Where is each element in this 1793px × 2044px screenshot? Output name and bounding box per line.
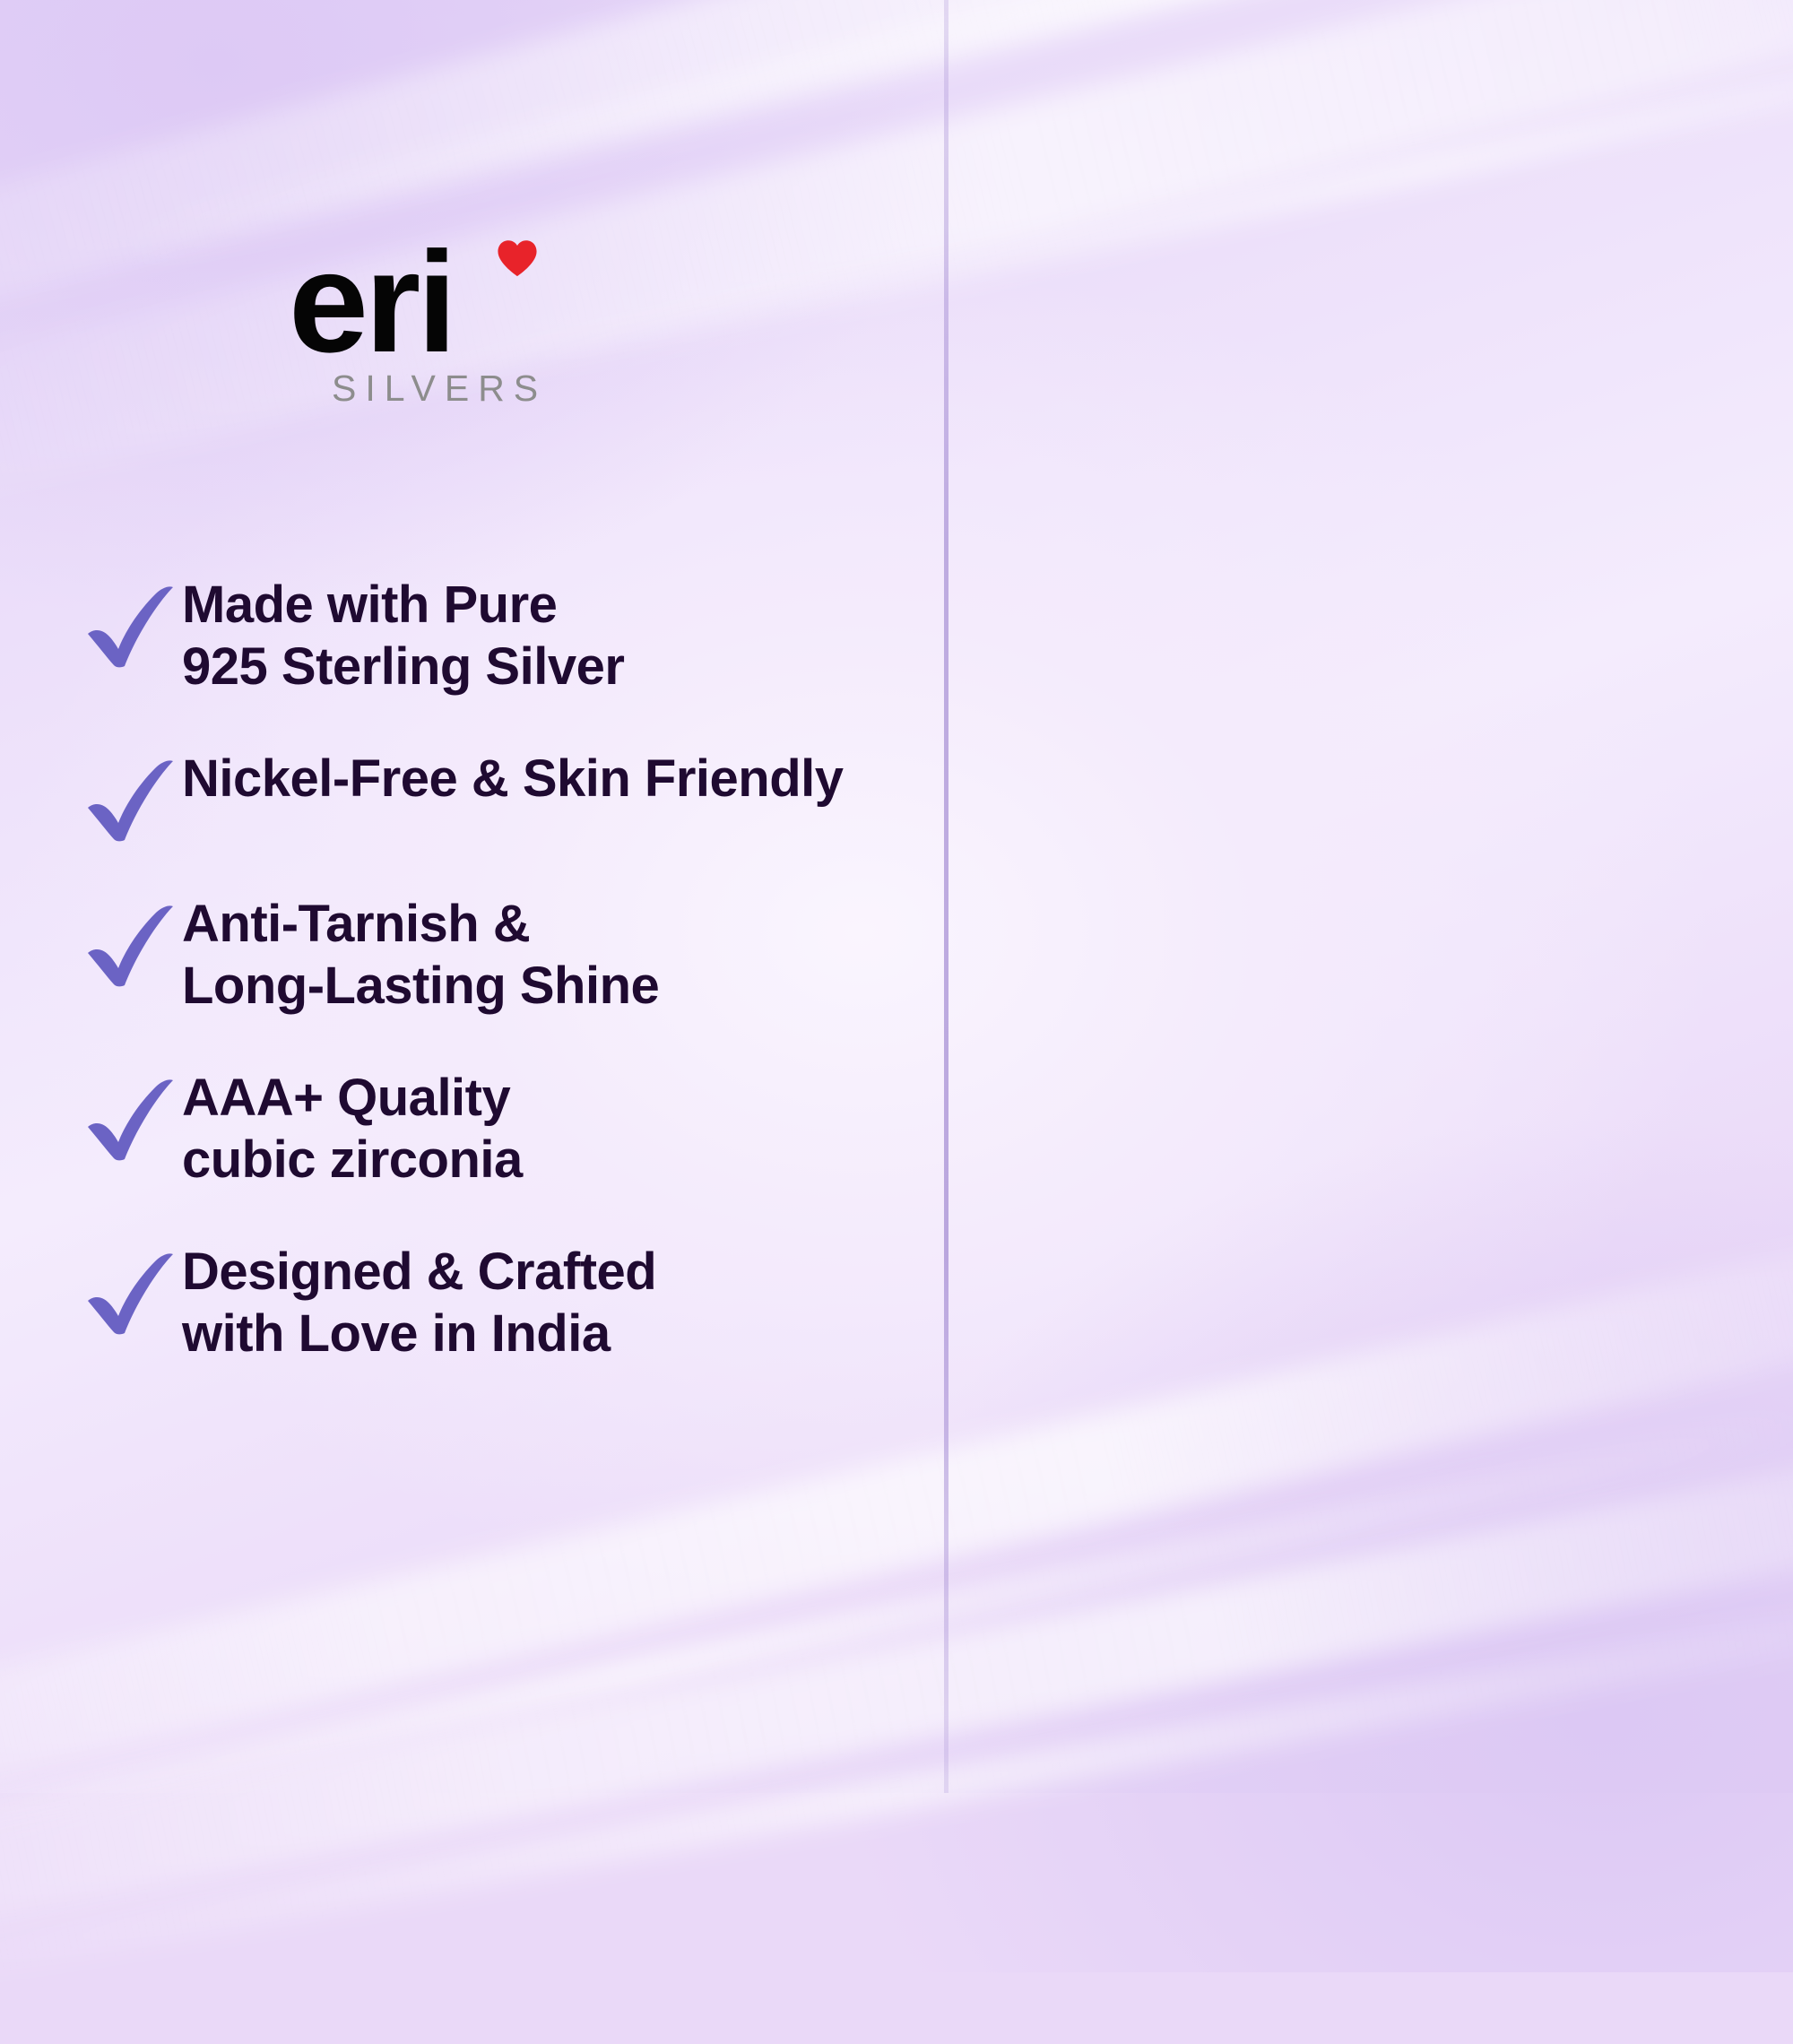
brand-logo: eri SILVERS [289,247,547,410]
check-icon [85,574,182,669]
other-brands-column: Other Brands Made with Cheap Alloy/Brass… [948,0,1793,1793]
list-item: AAA+ Quality cubic zirconia [85,1067,937,1191]
check-icon [85,748,182,843]
list-item: Nickel-Free & Skin Friendly [85,748,937,843]
check-icon [85,893,182,988]
comparison-infographic: eri SILVERS Made with Pure 925 Sterling … [0,0,1793,1793]
list-item: Designed & Crafted with Love in India [85,1241,937,1364]
check-icon [85,1241,182,1336]
list-item-label: Nickel-Free & Skin Friendly [182,748,844,810]
list-item: Made with Pure 925 Sterling Silver [85,574,937,697]
list-item-label: AAA+ Quality cubic zirconia [182,1067,523,1191]
list-item: Anti-Tarnish & Long-Lasting Shine [85,893,937,1017]
list-item-label: Made with Pure 925 Sterling Silver [182,574,624,697]
list-item-label: Anti-Tarnish & Long-Lasting Shine [182,893,659,1017]
brand-column: eri SILVERS Made with Pure 925 Sterling … [0,0,944,1793]
brand-feature-list: Made with Pure 925 Sterling Silver Nicke… [85,574,937,1415]
check-icon [85,1067,182,1162]
list-item-label: Designed & Crafted with Love in India [182,1241,656,1364]
heart-icon [497,239,538,277]
